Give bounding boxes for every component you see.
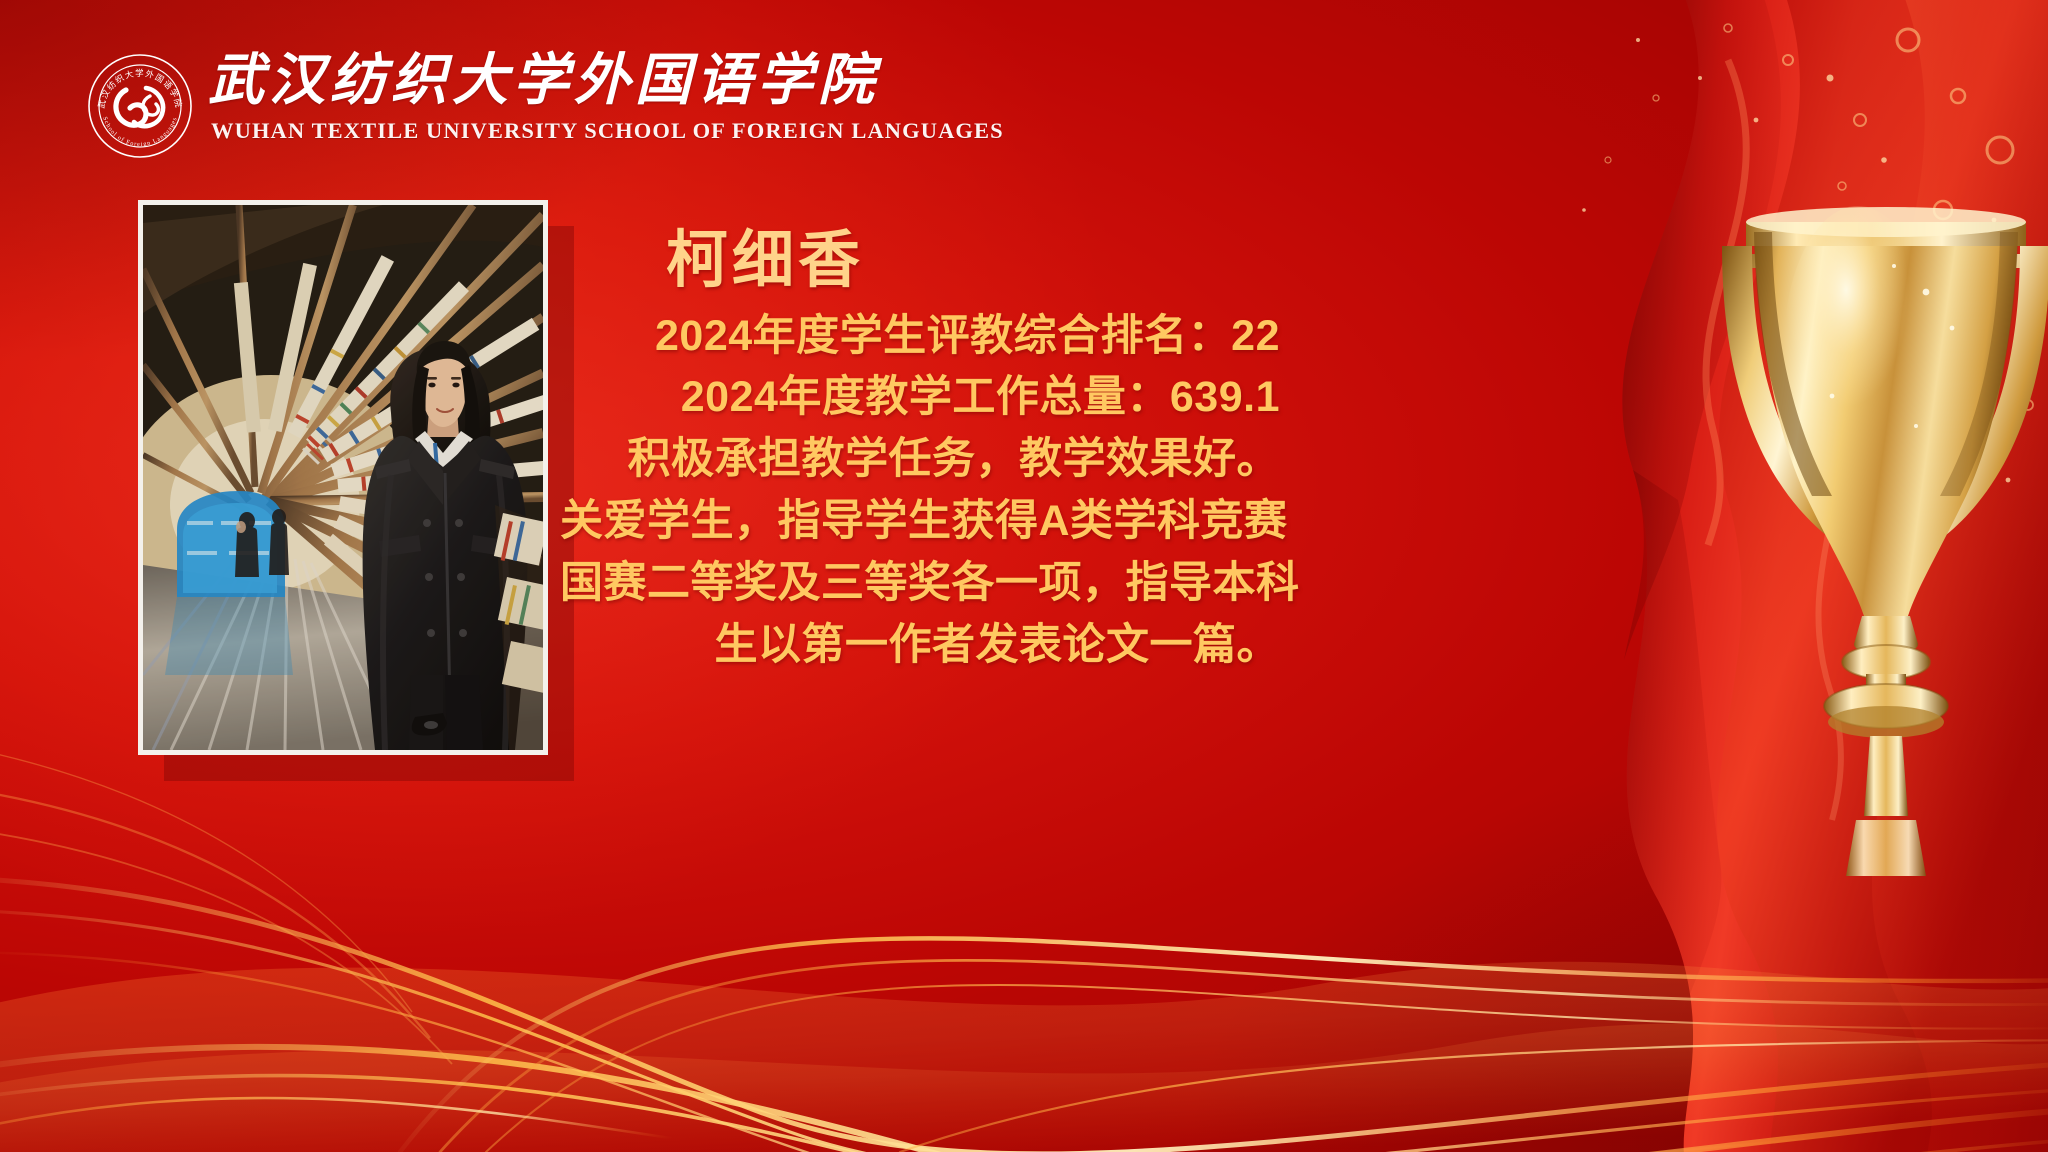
- university-crest-icon: 武汉纺织大学外国语学院 School of Foreign Languages: [86, 52, 194, 160]
- stat-teaching-workload: 2024年度教学工作总量：639.1: [560, 367, 1280, 429]
- university-name-cn: 武汉纺织大学外国语学院: [208, 48, 1004, 114]
- university-name-en: WUHAN TEXTILE UNIVERSITY SCHOOL OF FOREI…: [211, 118, 1004, 144]
- description-line-2: 关爱学生，指导学生获得A类学科竞赛: [560, 491, 1280, 553]
- stat-teaching-evaluation-rank: 2024年度学生评教综合排名：22: [560, 306, 1280, 368]
- slide-canvas: 武汉纺织大学外国语学院 School of Foreign Languages …: [0, 0, 2048, 1152]
- honoree-name: 柯细香: [666, 222, 1280, 300]
- description-line-1: 积极承担教学任务，教学效果好。: [560, 429, 1280, 491]
- gold-light-swirls: [0, 592, 2048, 1152]
- brand-header: 武汉纺织大学外国语学院 School of Foreign Languages …: [86, 48, 1004, 160]
- svg-text:School of Foreign Languages: School of Foreign Languages: [101, 116, 179, 148]
